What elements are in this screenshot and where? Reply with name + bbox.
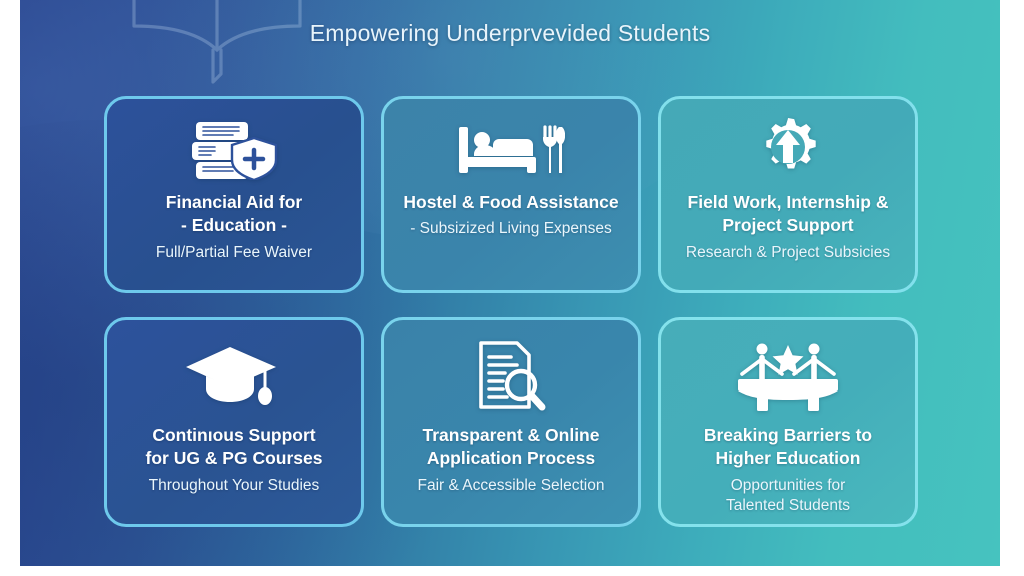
card-title: Transparent & Online Application Process bbox=[413, 424, 610, 471]
benefits-grid: Financial Aid for - Education - Full/Par… bbox=[104, 96, 918, 526]
card-subtitle: Opportunities for Talented Students bbox=[718, 476, 858, 516]
card-title: Financial Aid for - Education - bbox=[156, 191, 312, 238]
card-title: Continıous Support for UG & PG Courses bbox=[136, 424, 333, 471]
card-subtitle: - Subsizized Living Expenses bbox=[402, 219, 620, 239]
gear-arrow-up-icon bbox=[755, 117, 821, 183]
bridge-people-star-icon bbox=[736, 338, 840, 416]
page-title: Empowering Underprvevided Students bbox=[20, 20, 1000, 47]
card-subtitle: Full/Partial Fee Waiver bbox=[148, 243, 320, 263]
bed-cutlery-icon bbox=[457, 117, 565, 183]
books-shield-icon bbox=[188, 117, 280, 183]
card-financial-aid[interactable]: Financial Aid for - Education - Full/Par… bbox=[104, 96, 364, 293]
slide-canvas: Empowering Underprvevided Students bbox=[20, 0, 1000, 566]
card-title: Hostel & Food Assistance bbox=[393, 191, 628, 214]
card-field-work[interactable]: Field Work, Internship & Project Support… bbox=[658, 96, 918, 293]
graduation-cap-icon bbox=[186, 338, 282, 416]
card-subtitle: Research & Project Subsicies bbox=[678, 243, 898, 263]
card-title: Breaking Barriers to Higher Education bbox=[694, 424, 882, 471]
card-title: Field Work, Internship & Project Support bbox=[678, 191, 899, 238]
card-continuous-support[interactable]: Continıous Support for UG & PG Courses T… bbox=[104, 317, 364, 527]
card-breaking-barriers[interactable]: Breaking Barriers to Higher Education Op… bbox=[658, 317, 918, 527]
card-transparent-application[interactable]: Transparent & Online Application Process… bbox=[381, 317, 641, 527]
card-subtitle: Fair & Accessible Selection bbox=[410, 476, 613, 496]
document-magnifier-icon bbox=[476, 338, 546, 416]
card-subtitle: Throughout Your Studies bbox=[141, 476, 328, 496]
card-hostel-food[interactable]: Hostel & Food Assistance - Subsizized Li… bbox=[381, 96, 641, 293]
